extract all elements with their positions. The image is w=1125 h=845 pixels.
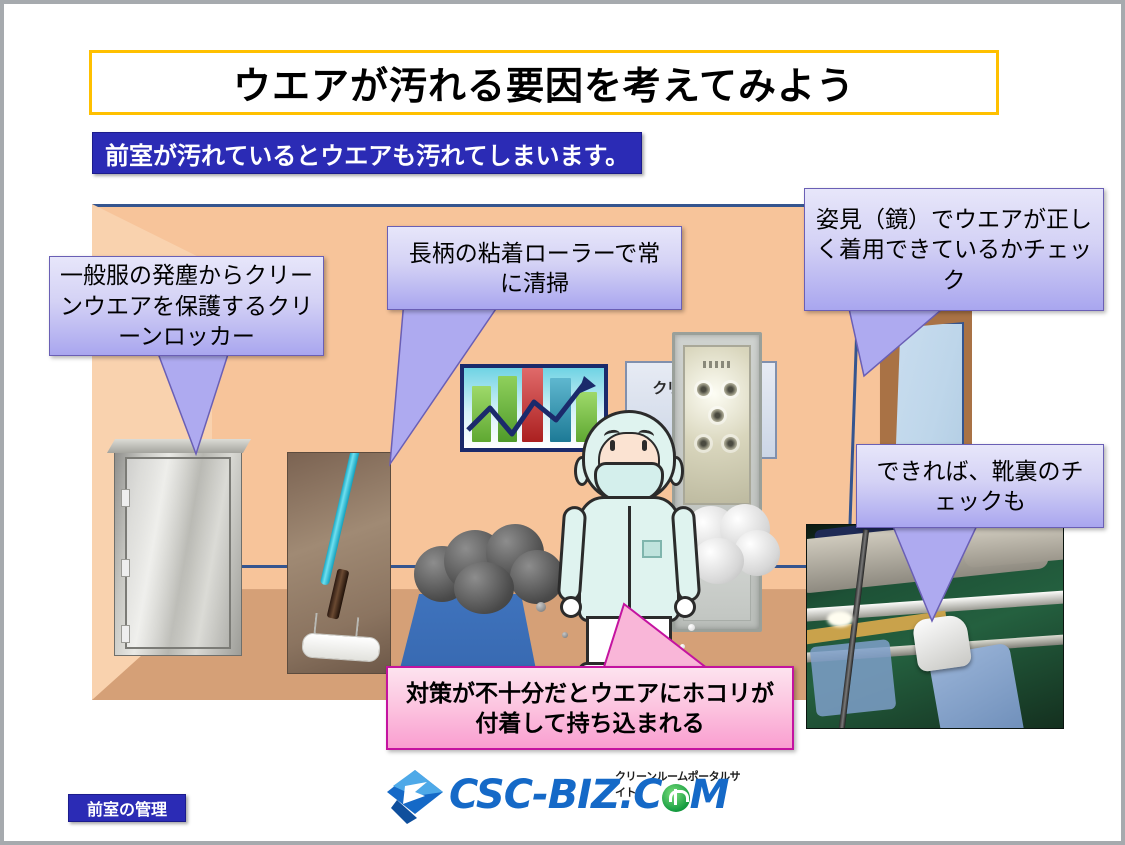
air-nozzle xyxy=(697,383,710,396)
clean-locker-photo xyxy=(114,446,242,656)
logo-wordmark: CSC-BIZ.CM xyxy=(449,772,728,818)
logo-wordmark-start: CSC-BIZ.C xyxy=(449,772,662,818)
door-window-label xyxy=(703,361,731,368)
roller-head xyxy=(301,632,381,662)
subtitle-bar: 前室が汚れているとウエアも汚れてしまいます。 xyxy=(92,132,642,174)
callout-dust-warning-text: 対策が不十分だとウエアにホコリが付着して持ち込まれる xyxy=(398,678,782,739)
locker-clip xyxy=(121,625,130,643)
callout-tacky-roller[interactable]: 長柄の粘着ローラーで常に清掃 xyxy=(387,226,682,310)
lamp-glare xyxy=(827,611,853,627)
worker-eye xyxy=(642,440,647,451)
locker-curtain xyxy=(125,457,231,649)
callout-mirror-check-text: 姿見（鏡）でウエアが正しく着用できているかチェック xyxy=(815,204,1093,295)
callout-mirror-check[interactable]: 姿見（鏡）でウエアが正しく着用できているかチェック xyxy=(804,188,1104,311)
callout-clean-locker-text: 一般服の発塵からクリーンウエアを保護するクリーンロッカー xyxy=(60,260,313,351)
callout-tacky-roller-text: 長柄の粘着ローラーで常に清掃 xyxy=(398,238,671,299)
callout-dust-warning[interactable]: 対策が不十分だとウエアにホコリが付着して持ち込まれる xyxy=(386,666,794,750)
callout-clean-locker[interactable]: 一般服の発塵からクリーンウエアを保護するクリーンロッカー xyxy=(49,256,324,356)
subtitle-text: 前室が汚れているとウエアも汚れてしまいます。 xyxy=(105,136,629,171)
page-title: ウエアが汚れる要因を考えてみよう xyxy=(233,55,855,110)
worker-badge-pocket xyxy=(642,540,662,558)
logo-wordmark-end: M xyxy=(690,772,729,818)
worker-eye xyxy=(610,440,615,451)
locker-clip xyxy=(121,559,130,577)
logo-leaf-o-icon xyxy=(662,784,690,812)
roller-handle xyxy=(320,452,369,586)
callout-shoe-sole-check[interactable]: できれば、靴裏のチェックも xyxy=(856,444,1104,528)
slide-canvas: ウエアが汚れる要因を考えてみよう 前室が汚れているとウエアも汚れてしまいます。 xyxy=(0,0,1125,845)
tacky-roller-photo xyxy=(287,452,391,674)
air-nozzle xyxy=(711,409,724,422)
csc-biz-logo[interactable]: クリーンルームポータルサイト CSC-BIZ.CM xyxy=(387,766,747,828)
air-nozzle xyxy=(724,383,737,396)
callout-shoe-sole-check-text: できれば、靴裏のチェックも xyxy=(867,456,1093,517)
air-nozzle xyxy=(724,437,737,450)
dust-speck xyxy=(536,602,546,612)
logo-diamond-icon xyxy=(387,770,443,824)
locker-clip xyxy=(121,489,130,507)
footer-section-badge-label: 前室の管理 xyxy=(87,796,167,820)
page-title-frame: ウエアが汚れる要因を考えてみよう xyxy=(89,50,999,115)
footer-section-badge: 前室の管理 xyxy=(68,794,186,822)
callout-tail-tacky-roller xyxy=(372,284,532,474)
